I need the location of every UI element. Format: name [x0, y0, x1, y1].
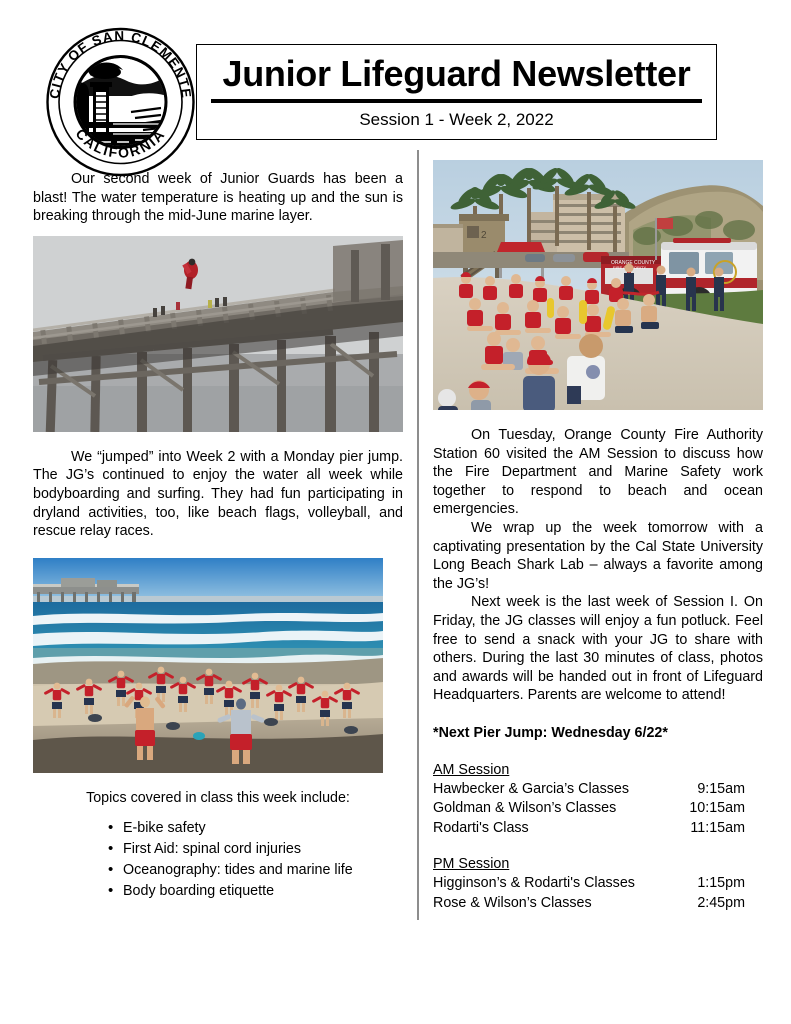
class-time: 9:15am	[697, 780, 763, 800]
class-name: Rose & Wilson’s Classes	[433, 894, 592, 914]
photo-fire-authority-visit: 2	[433, 160, 763, 410]
am-session-block: AM Session Hawbecker & Garcia’s Classes …	[433, 761, 763, 839]
right-paragraph-3: Next week is the last week of Session I.…	[433, 593, 763, 705]
city-seal-icon: CITY OF SAN CLEMENTE CALIFORNIA	[43, 26, 198, 178]
table-row: Rose & Wilson’s Classes 2:45pm	[433, 894, 763, 914]
class-name: Goldman & Wilson’s Classes	[433, 799, 616, 819]
list-item: Body boarding etiquette	[33, 881, 403, 902]
class-time: 11:15am	[690, 819, 763, 839]
pm-session-block: PM Session Higginson’s & Rodarti's Class…	[433, 855, 763, 913]
pm-session-heading: PM Session	[433, 855, 763, 874]
page-title: Junior Lifeguard Newsletter	[197, 53, 716, 95]
left-paragraph-2: We “jumped” into Week 2 with a Monday pi…	[33, 448, 403, 541]
page-header: CITY OF SAN CLEMENTE CALIFORNIA Junior L…	[0, 0, 791, 150]
title-underline-rule	[211, 99, 702, 103]
right-column: 2	[433, 160, 763, 913]
class-name: Hawbecker & Garcia’s Classes	[433, 780, 629, 800]
page-subtitle: Session 1 - Week 2, 2022	[197, 107, 716, 133]
table-row: Goldman & Wilson’s Classes 10:15am	[433, 799, 763, 819]
right-paragraph-2: We wrap up the week tomorrow with a capt…	[433, 519, 763, 593]
svg-text:2: 2	[481, 230, 487, 241]
newsletter-title-box: Junior Lifeguard Newsletter Session 1 - …	[196, 44, 717, 140]
class-name: Higginson’s & Rodarti's Classes	[433, 874, 635, 894]
class-name: Rodarti's Class	[433, 819, 529, 839]
list-item: Oceanography: tides and marine life	[33, 860, 403, 881]
left-column: Our second week of Junior Guards has bee…	[33, 170, 403, 902]
photo-beach-dryland	[33, 558, 383, 773]
left-paragraph-1: Our second week of Junior Guards has bee…	[33, 170, 403, 226]
right-paragraph-1: On Tuesday, Orange County Fire Authority…	[433, 426, 763, 519]
am-session-heading: AM Session	[433, 761, 763, 780]
next-pier-jump-note: *Next Pier Jump: Wednesday 6/22*	[433, 724, 763, 743]
photo-pier-jump	[33, 236, 403, 432]
table-row: Rodarti's Class 11:15am	[433, 819, 763, 839]
table-row: Higginson’s & Rodarti's Classes 1:15pm	[433, 874, 763, 894]
topics-intro: Topics covered in class this week includ…	[33, 789, 403, 808]
column-divider	[417, 150, 419, 920]
topics-list: E-bike safety First Aid: spinal cord inj…	[33, 818, 403, 902]
class-time: 1:15pm	[697, 874, 763, 894]
newsletter-page: CITY OF SAN CLEMENTE CALIFORNIA Junior L…	[0, 0, 791, 1024]
list-item: E-bike safety	[33, 818, 403, 839]
list-item: First Aid: spinal cord injuries	[33, 839, 403, 860]
class-time: 2:45pm	[697, 894, 763, 914]
table-row: Hawbecker & Garcia’s Classes 9:15am	[433, 780, 763, 800]
class-time: 10:15am	[689, 799, 763, 819]
